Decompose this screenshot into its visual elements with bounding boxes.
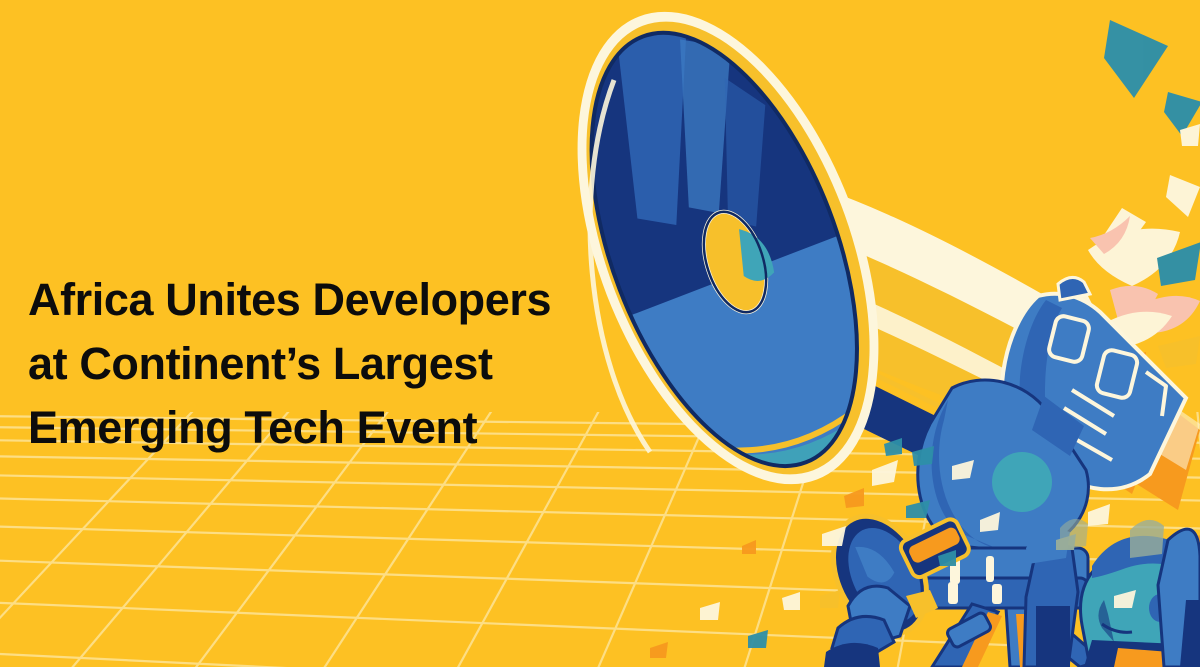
promo-banner: Africa Unites Developers at Continent’s …	[0, 0, 1200, 667]
crowd-figures	[1024, 519, 1200, 667]
headline: Africa Unites Developers at Continent’s …	[28, 268, 628, 460]
headline-line-3: Emerging Tech Event	[28, 396, 628, 460]
headline-line-2: at Continent’s Largest	[28, 332, 628, 396]
headline-line-1: Africa Unites Developers	[28, 268, 628, 332]
